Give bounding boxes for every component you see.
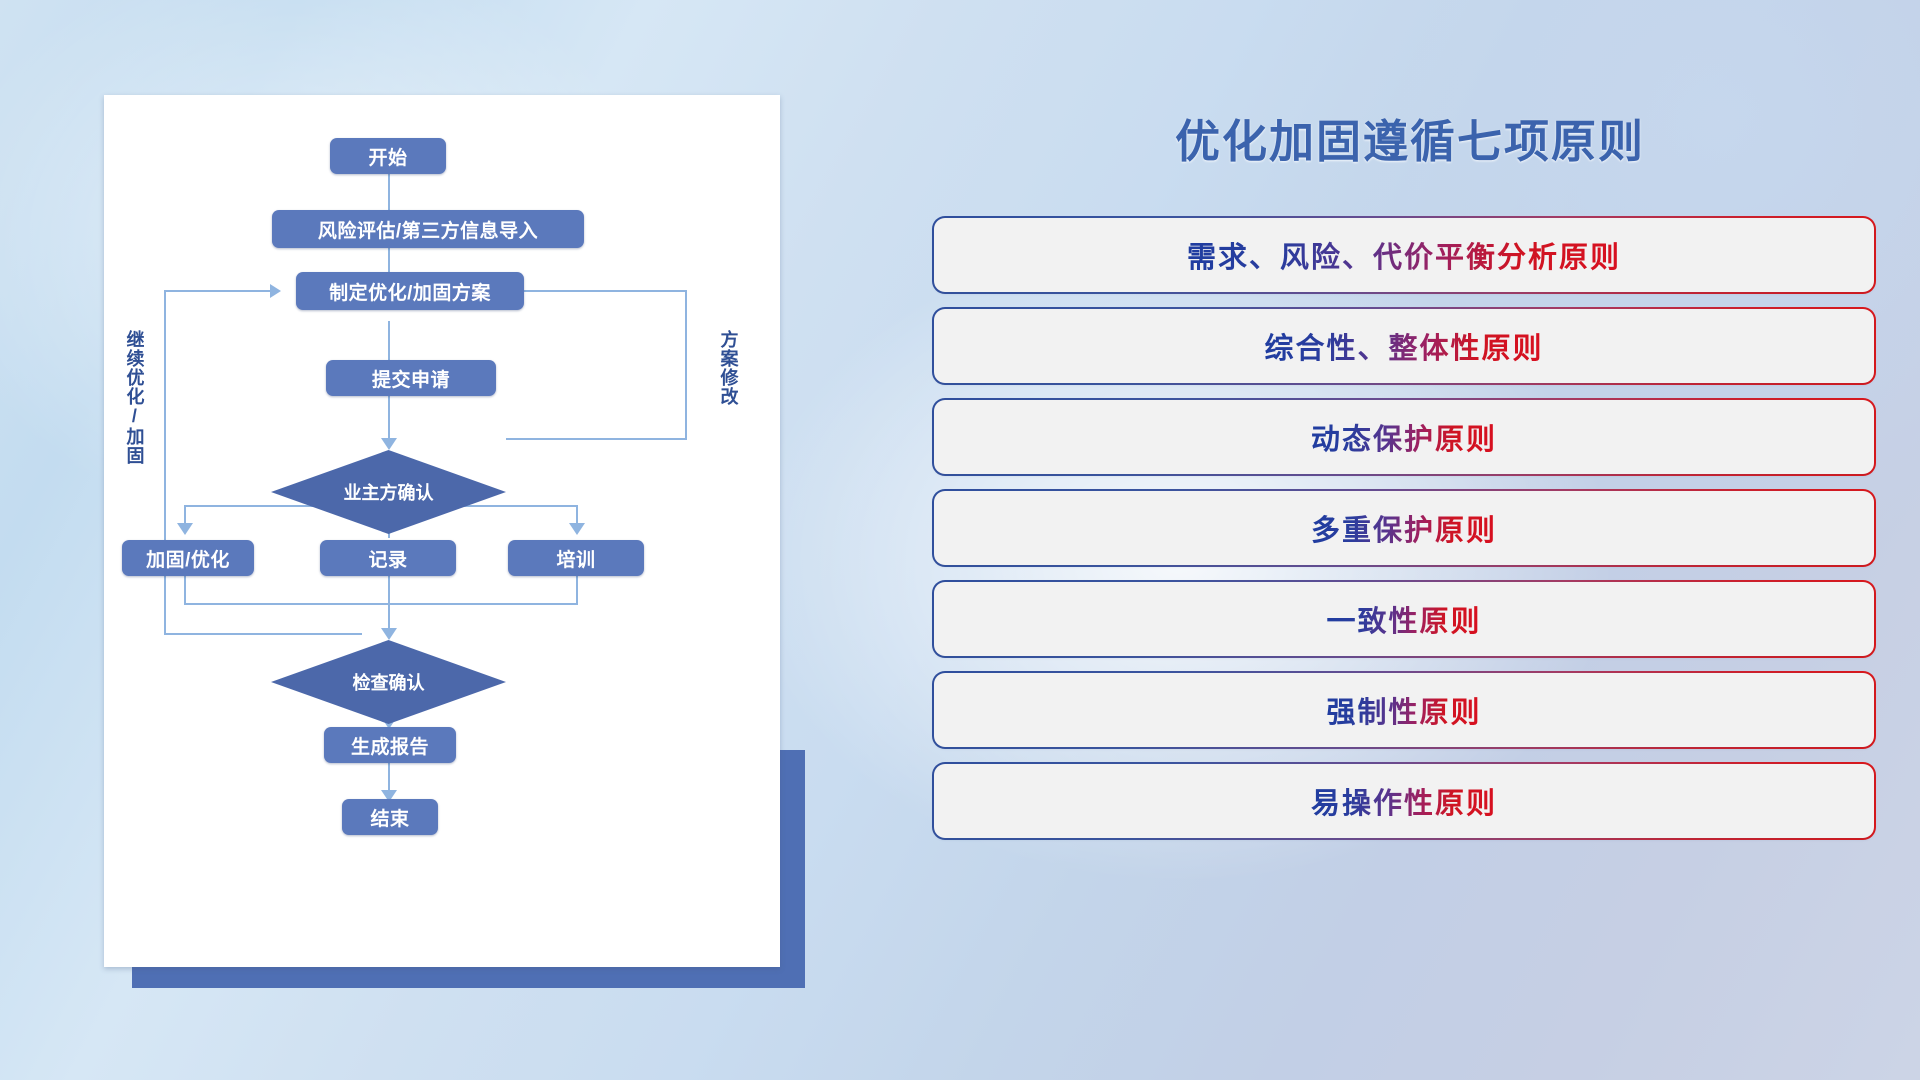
flow-node-record[interactable]: 记录 [320, 540, 456, 576]
connector-training-down [576, 575, 578, 605]
flow-node-end[interactable]: 结束 [342, 799, 438, 835]
connector-right-loop-to-plan [504, 290, 686, 292]
connector-right-loop-vertical [685, 290, 687, 440]
flow-node-check-confirm[interactable]: 检查确认 [271, 640, 506, 724]
flowchart-panel: 继续优化/加固 方案修改 [0, 0, 900, 1080]
flow-label-left-loop: 继续优化/加固 [124, 330, 143, 465]
principle-label: 易操作性原则 [1311, 780, 1497, 822]
principle-card-6[interactable]: 强制性原则 [934, 673, 1874, 747]
principle-label: 强制性原则 [1326, 689, 1481, 731]
principle-card-3[interactable]: 动态保护原则 [934, 400, 1874, 474]
flow-node-start[interactable]: 开始 [330, 138, 446, 174]
flow-node-reinforce[interactable]: 加固/优化 [122, 540, 254, 576]
flow-node-risk-assessment[interactable]: 风险评估/第三方信息导入 [272, 210, 584, 248]
principle-label: 一致性原则 [1326, 598, 1481, 640]
connector-confirm-right [506, 438, 687, 440]
principles-panel: 优化加固遵循七项原则 需求、风险、代价平衡分析原则 综合性、整体性原则 动态保护… [900, 0, 1920, 1080]
principle-label: 动态保护原则 [1311, 416, 1497, 458]
connector-left-loop-bottom [164, 633, 362, 635]
flow-node-training[interactable]: 培训 [508, 540, 644, 576]
principle-card-7[interactable]: 易操作性原则 [934, 764, 1874, 838]
flowchart-card: 继续优化/加固 方案修改 [104, 95, 780, 967]
connector-left-loop-vertical [164, 290, 166, 635]
flow-label-right-loop: 方案修改 [718, 330, 737, 406]
arrow-left-loop-into-plan [270, 284, 281, 298]
flow-node-owner-confirm[interactable]: 业主方确认 [271, 450, 506, 534]
principles-list: 需求、风险、代价平衡分析原则 综合性、整体性原则 动态保护原则 多重保护原则 一… [934, 218, 1874, 855]
flow-node-plan[interactable]: 制定优化/加固方案 [296, 272, 524, 310]
connector-reinforce-down [184, 575, 186, 605]
principle-label: 多重保护原则 [1311, 507, 1497, 549]
arrow-to-training [569, 523, 585, 535]
arrow-submit-to-confirm [381, 438, 397, 450]
flow-node-report[interactable]: 生成报告 [324, 727, 456, 763]
principle-card-1[interactable]: 需求、风险、代价平衡分析原则 [934, 218, 1874, 292]
principle-label: 需求、风险、代价平衡分析原则 [1187, 234, 1621, 276]
arrow-to-check-confirm [381, 628, 397, 640]
arrow-to-reinforce [177, 523, 193, 535]
page-title: 优化加固遵循七项原则 [900, 105, 1920, 170]
principle-label: 综合性、整体性原则 [1264, 325, 1543, 367]
principle-card-5[interactable]: 一致性原则 [934, 582, 1874, 656]
principle-card-2[interactable]: 综合性、整体性原则 [934, 309, 1874, 383]
principle-card-4[interactable]: 多重保护原则 [934, 491, 1874, 565]
connector-left-loop-to-plan [164, 290, 272, 292]
flow-node-submit[interactable]: 提交申请 [326, 360, 496, 396]
connector-merge-bus [184, 603, 578, 605]
